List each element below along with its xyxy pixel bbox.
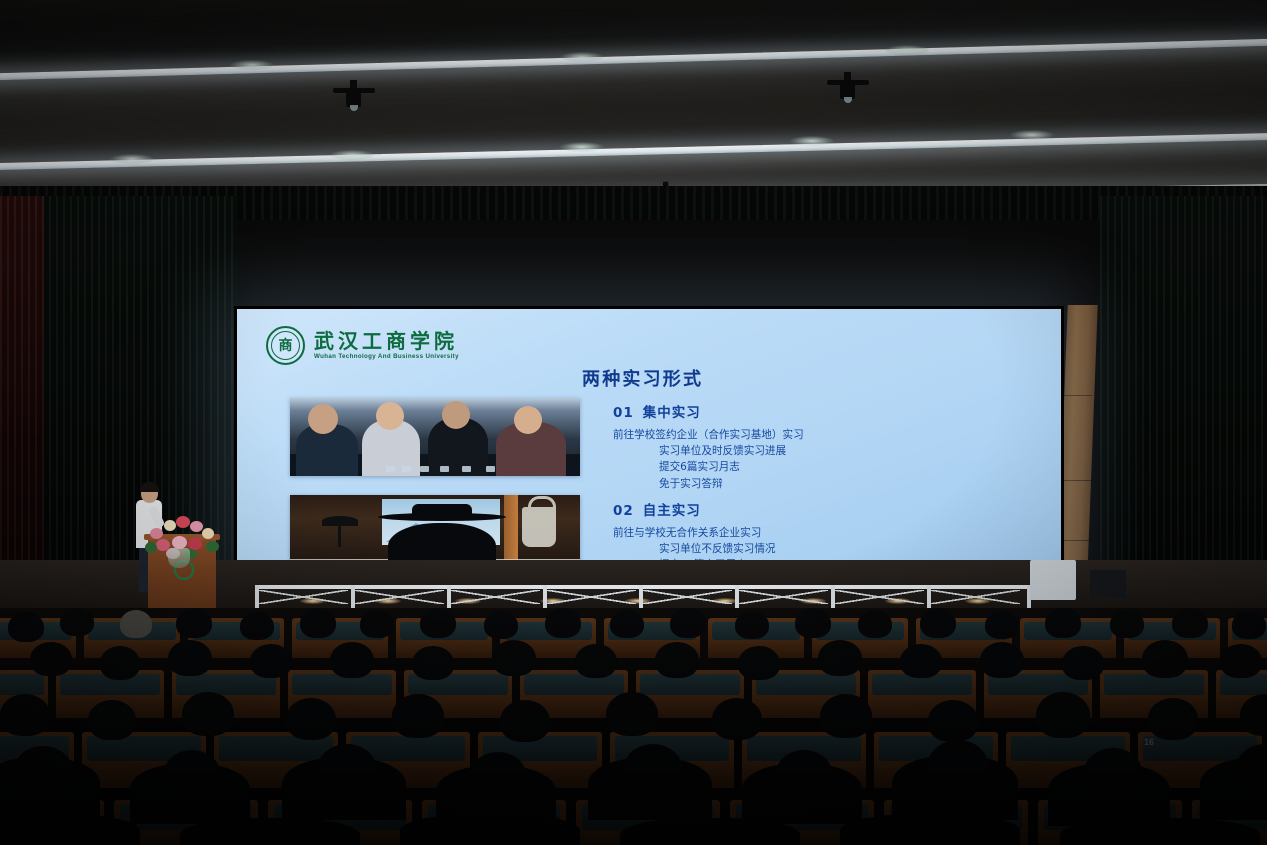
university-name-en: Wuhan Technology And Business University [314,353,459,360]
audience-seating: 2 4 16 [0,608,1267,845]
ceiling-spot-light [1010,130,1054,140]
block-01-line: 免于实习答辩 [613,476,804,492]
auditorium-presentation-photo: 商 武汉工商学院 Wuhan Technology And Business U… [0,0,1267,845]
university-name-cn: 武汉工商学院 [314,331,459,352]
slide-block-01: 01集中实习 前往学校签约企业（合作实习基地）实习 实习单位及时反馈实习进展 提… [613,401,804,492]
ceiling-spot-light [885,45,929,55]
university-seal-icon: 商 [266,326,305,365]
ceiling-projector-icon [333,80,375,110]
block-02-number: 02 [613,503,634,519]
projection-screen: 商 武汉工商学院 Wuhan Technology And Business U… [234,306,1064,586]
av-equipment-case [1090,570,1126,598]
ceiling-spot-light [110,154,154,164]
ceiling [0,0,1267,210]
stage-front-railing [255,585,1031,609]
ceiling-spot-light [560,142,604,152]
block-02-line: 实习单位不反馈实习情况 [613,541,917,557]
av-equipment-cart [1030,560,1076,600]
block-02-line: 前往与学校无合作关系企业实习 [613,525,917,541]
flower-vase [168,548,190,568]
block-01-title: 集中实习 [643,405,701,421]
ceiling-spot-light [560,52,604,62]
ceiling-projector-icon [827,72,869,102]
block-01-line: 提交6篇实习月志 [613,459,804,475]
block-01-lines: 前往学校签约企业（合作实习基地）实习 实习单位及时反馈实习进展 提交6篇实习月志… [613,427,804,492]
block-01-heading: 01集中实习 [613,401,804,421]
slide-photo-group-meeting [290,398,580,476]
university-logo: 商 武汉工商学院 Wuhan Technology And Business U… [266,326,459,365]
ceiling-spot-light [790,136,834,146]
ceiling-spot-light [230,60,274,70]
stage-curtain-right [1100,196,1267,616]
red-side-drape [0,196,44,596]
block-01-number: 01 [613,405,634,421]
block-01-line: 前往学校签约企业（合作实习基地）实习 [613,427,804,443]
block-02-heading: 02自主实习 [613,499,917,519]
speaker-glasses-icon [142,491,157,495]
block-02-title: 自主实习 [643,503,701,519]
slide-title: 两种实习形式 [582,365,703,391]
block-01-line: 实习单位及时反馈实习进展 [613,443,804,459]
presentation-slide: 商 武汉工商学院 Wuhan Technology And Business U… [237,309,1061,583]
seal-glyph: 商 [279,339,293,353]
ceiling-spot-light [330,150,374,160]
